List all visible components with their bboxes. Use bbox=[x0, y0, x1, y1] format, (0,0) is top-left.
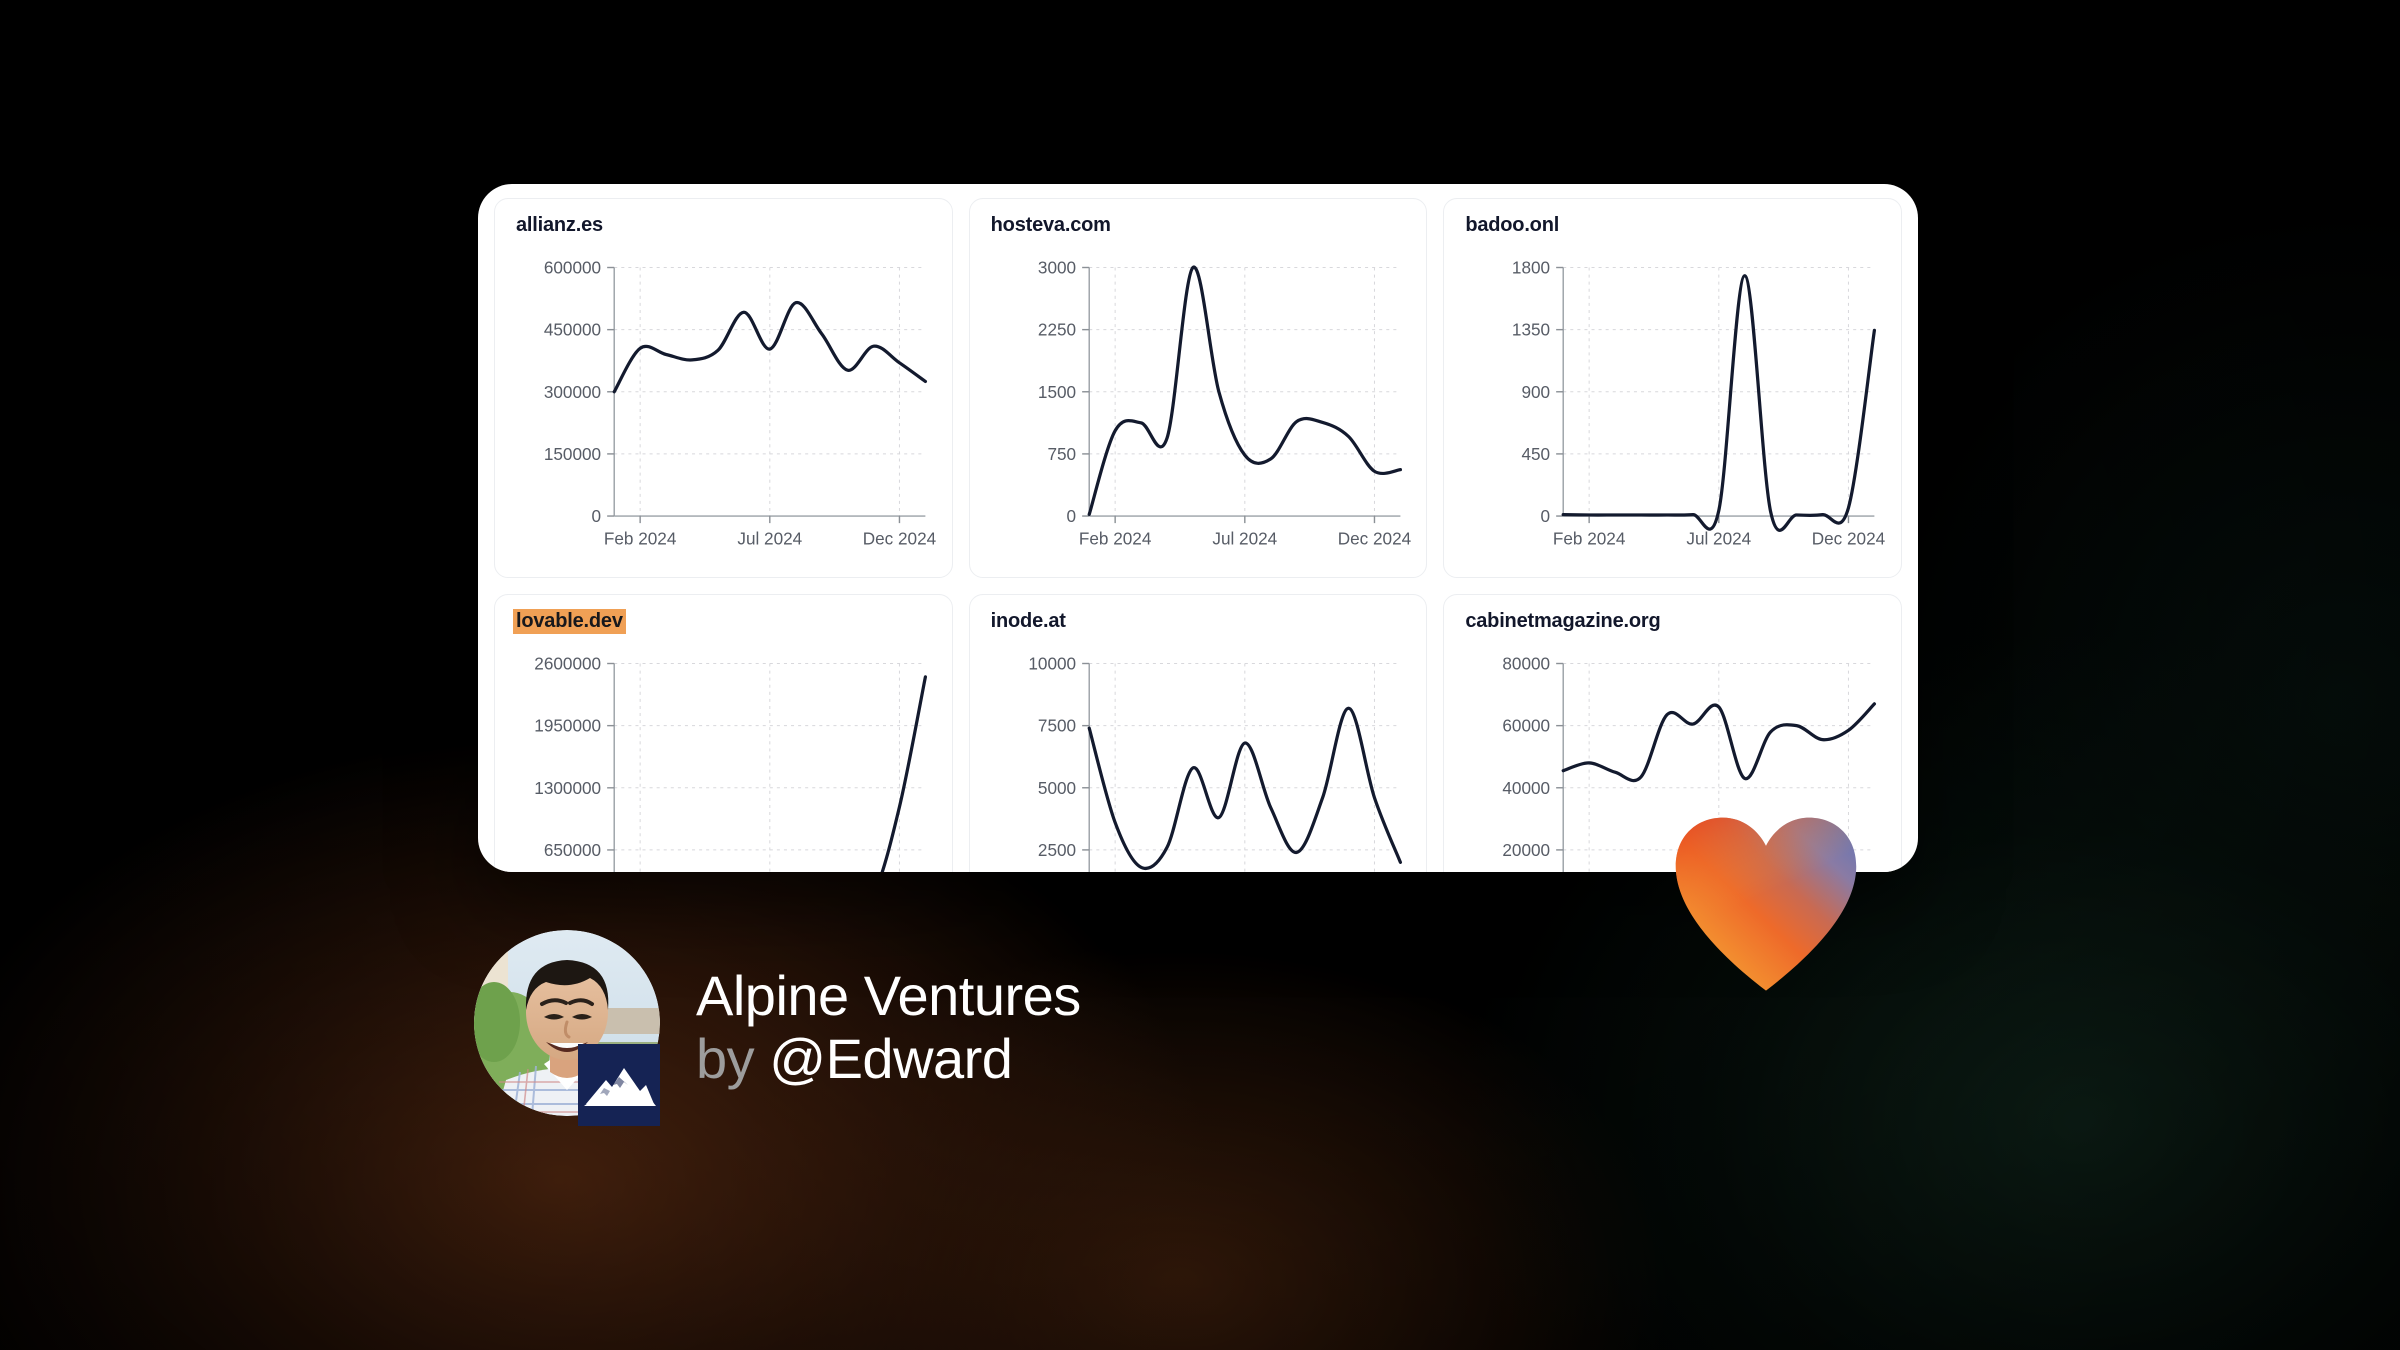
svg-text:300000: 300000 bbox=[544, 382, 601, 402]
svg-text:Jul 2024: Jul 2024 bbox=[1212, 528, 1277, 548]
svg-text:650000: 650000 bbox=[544, 840, 601, 860]
svg-text:5000: 5000 bbox=[1038, 778, 1076, 798]
svg-text:450000: 450000 bbox=[544, 320, 601, 340]
chart-title: lovable.dev bbox=[513, 609, 626, 634]
by-label: by bbox=[696, 1027, 754, 1090]
svg-text:7500: 7500 bbox=[1038, 716, 1076, 736]
svg-text:150000: 150000 bbox=[544, 444, 601, 464]
svg-text:2250: 2250 bbox=[1038, 320, 1076, 340]
svg-text:Feb 2024: Feb 2024 bbox=[604, 528, 677, 548]
svg-text:3000: 3000 bbox=[1038, 258, 1076, 278]
svg-text:1950000: 1950000 bbox=[534, 716, 601, 736]
svg-text:40000: 40000 bbox=[1503, 778, 1551, 798]
svg-text:450: 450 bbox=[1522, 444, 1551, 464]
avatar-stack bbox=[474, 930, 660, 1126]
svg-text:80000: 80000 bbox=[1503, 654, 1551, 674]
svg-text:Dec 2024: Dec 2024 bbox=[1337, 528, 1411, 548]
chart-panel-lovable-dev[interactable]: lovable.dev650000130000019500002600000Fe… bbox=[494, 594, 953, 872]
chart-grid: allianz.es0150000300000450000600000Feb 2… bbox=[478, 184, 1918, 872]
svg-text:1800: 1800 bbox=[1512, 258, 1550, 278]
svg-text:0: 0 bbox=[1066, 506, 1076, 526]
svg-text:Dec 2024: Dec 2024 bbox=[1812, 528, 1886, 548]
heart-icon bbox=[1672, 812, 1860, 1000]
svg-text:1350: 1350 bbox=[1512, 320, 1550, 340]
svg-text:20000: 20000 bbox=[1503, 840, 1551, 860]
chart-title: allianz.es bbox=[513, 213, 606, 238]
svg-text:0: 0 bbox=[592, 506, 602, 526]
svg-text:2500: 2500 bbox=[1038, 840, 1076, 860]
svg-text:900: 900 bbox=[1522, 382, 1551, 402]
footer-row: Alpine Ventures by @Edward bbox=[474, 930, 1081, 1126]
chart-title: inode.at bbox=[988, 609, 1069, 634]
chart-panel-hosteva-com[interactable]: hosteva.com0750150022503000Feb 2024Jul 2… bbox=[969, 198, 1428, 578]
svg-text:1300000: 1300000 bbox=[534, 778, 601, 798]
svg-text:Jul 2024: Jul 2024 bbox=[737, 528, 802, 548]
chart-plot: 25005000750010000Feb 2024Jul 2024Dec 202… bbox=[970, 647, 1427, 872]
svg-text:2600000: 2600000 bbox=[534, 654, 601, 674]
svg-text:Feb 2024: Feb 2024 bbox=[1079, 528, 1152, 548]
chart-panel-inode-at[interactable]: inode.at25005000750010000Feb 2024Jul 202… bbox=[969, 594, 1428, 872]
chart-title: hosteva.com bbox=[988, 213, 1114, 238]
svg-text:600000: 600000 bbox=[544, 258, 601, 278]
footer-text: Alpine Ventures by @Edward bbox=[696, 965, 1081, 1090]
chart-panel-allianz-es[interactable]: allianz.es0150000300000450000600000Feb 2… bbox=[494, 198, 953, 578]
svg-text:Dec 2024: Dec 2024 bbox=[863, 528, 937, 548]
chart-title: badoo.onl bbox=[1462, 213, 1562, 238]
chart-plot: 0750150022503000Feb 2024Jul 2024Dec 2024 bbox=[970, 251, 1427, 577]
author-handle[interactable]: @Edward bbox=[769, 1027, 1012, 1090]
chart-title: cabinetmagazine.org bbox=[1462, 609, 1663, 634]
svg-text:10000: 10000 bbox=[1028, 654, 1076, 674]
chart-plot: 650000130000019500002600000Feb 2024Jul 2… bbox=[495, 647, 952, 872]
svg-text:Jul 2024: Jul 2024 bbox=[1687, 528, 1752, 548]
chart-plot: 045090013501800Feb 2024Jul 2024Dec 2024 bbox=[1444, 251, 1901, 577]
dashboard-card: allianz.es0150000300000450000600000Feb 2… bbox=[478, 184, 1918, 872]
chart-plot: 0150000300000450000600000Feb 2024Jul 202… bbox=[495, 251, 952, 577]
svg-text:60000: 60000 bbox=[1503, 716, 1551, 736]
svg-text:1500: 1500 bbox=[1038, 382, 1076, 402]
mountain-logo bbox=[578, 1044, 660, 1126]
svg-text:750: 750 bbox=[1047, 444, 1076, 464]
footer-byline: by @Edward bbox=[696, 1028, 1081, 1091]
page-title: Alpine Ventures bbox=[696, 965, 1081, 1028]
chart-panel-badoo-onl[interactable]: badoo.onl045090013501800Feb 2024Jul 2024… bbox=[1443, 198, 1902, 578]
svg-text:0: 0 bbox=[1541, 506, 1551, 526]
svg-text:Feb 2024: Feb 2024 bbox=[1553, 528, 1626, 548]
